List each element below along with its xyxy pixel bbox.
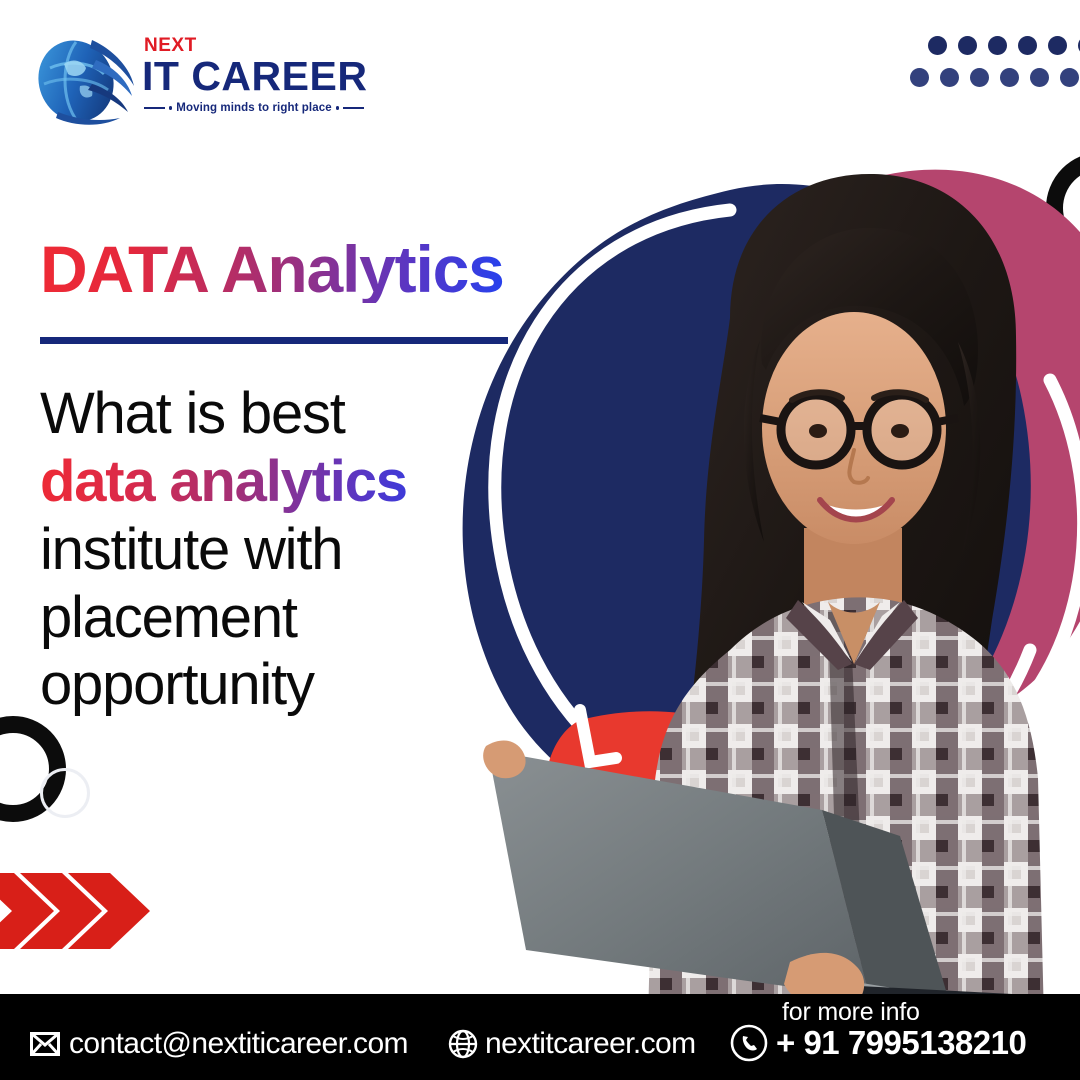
globe-icon xyxy=(448,1029,478,1059)
logo-tagline: Moving minds to right place xyxy=(176,102,331,114)
title-underline-rule xyxy=(40,337,508,344)
headline-line-5: opportunity xyxy=(40,651,510,719)
logo-tagline-row: Moving minds to right place xyxy=(144,102,364,114)
faint-ring-icon xyxy=(40,768,90,818)
footer-website-text: nextitcareer.com xyxy=(485,1027,696,1061)
tagline-rule-right xyxy=(343,107,364,109)
page-title: DATA Analytics xyxy=(40,236,600,303)
tagline-dot-right xyxy=(336,106,340,110)
brand-logo[interactable]: NEXT IT CAREER Moving minds to right pla… xyxy=(34,32,364,132)
red-chevron-arrows-icon xyxy=(0,873,152,949)
footer-bar: contact@nextiticareer.com nextitcareer.c… xyxy=(0,994,1080,1080)
tagline-rule-left xyxy=(144,107,165,109)
footer-phone-text: + 91 7995138210 xyxy=(776,1024,1026,1062)
envelope-icon xyxy=(30,1032,60,1056)
headline-block: What is best data analytics institute wi… xyxy=(40,380,510,719)
footer-more-info-label: for more info xyxy=(782,998,920,1027)
page-title-block: DATA Analytics xyxy=(40,236,600,303)
headline-line-3: institute with xyxy=(40,516,510,584)
logo-text-block: NEXT IT CAREER Moving minds to right pla… xyxy=(142,36,364,114)
globe-swoosh-icon xyxy=(34,34,136,130)
tagline-dot-left xyxy=(169,106,173,110)
headline-line-4: placement xyxy=(40,584,510,652)
phone-icon xyxy=(730,1024,768,1062)
headline-highlight: data analytics xyxy=(40,448,510,516)
footer-phone[interactable]: + 91 7995138210 xyxy=(730,1024,1026,1062)
dot-grid-decor xyxy=(910,36,1080,106)
logo-main-label: IT CAREER xyxy=(142,56,364,97)
headline-line-1: What is best xyxy=(40,380,510,448)
footer-website[interactable]: nextitcareer.com xyxy=(448,1027,696,1061)
footer-email-text: contact@nextiticareer.com xyxy=(69,1027,408,1061)
poster-canvas: NEXT IT CAREER Moving minds to right pla… xyxy=(0,0,1080,1080)
footer-email[interactable]: contact@nextiticareer.com xyxy=(30,1027,408,1061)
